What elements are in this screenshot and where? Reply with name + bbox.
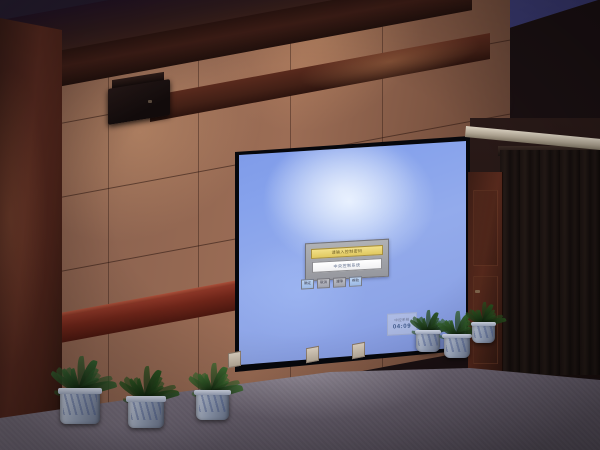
pot-rim <box>126 396 166 402</box>
plant-right-2 <box>444 297 470 358</box>
panel-seam-vertical <box>108 18 109 418</box>
ceramic-planter-pot <box>60 388 100 424</box>
ceramic-planter-pot <box>416 330 440 352</box>
pot-rim <box>58 388 103 394</box>
room-photo-scene: 请输入控制密码 中央控制系统 确定取消清除帮助 中控系统 04:09 <box>0 0 600 450</box>
wall-outlet-left[interactable] <box>228 351 241 368</box>
ceramic-planter-pot <box>472 322 495 343</box>
dialog-button-1[interactable]: 确定 <box>301 278 314 289</box>
projector-led-icon <box>148 100 152 103</box>
badge-label: 中控系统 <box>394 318 409 324</box>
dialog-title-bar: 请输入控制密码 <box>311 245 383 259</box>
dialog-button-3[interactable]: 清除 <box>333 277 346 288</box>
plant-left-3 <box>196 346 229 420</box>
wall-outlet-right[interactable] <box>352 342 365 359</box>
ceramic-planter-pot <box>196 390 229 420</box>
pot-rim <box>194 390 231 395</box>
dialog-input-field[interactable]: 中央控制系统 <box>312 258 382 273</box>
dialog-button-4[interactable]: 帮助 <box>349 276 362 287</box>
room-door[interactable] <box>468 172 503 380</box>
dialog-button-2[interactable]: 取消 <box>317 277 330 288</box>
badge-time: 04:09 <box>393 323 411 330</box>
ceramic-planter-pot <box>444 334 470 358</box>
plant-left-2 <box>128 348 164 428</box>
pot-rim <box>415 330 442 334</box>
panel-seam-vertical <box>198 1 199 401</box>
plant-left-1 <box>60 335 100 424</box>
plant-right-3 <box>472 290 495 343</box>
ceramic-planter-pot <box>128 396 164 428</box>
blackout-curtain <box>500 150 600 375</box>
pot-rim <box>471 322 497 326</box>
wall-outlet-mid[interactable] <box>306 346 319 363</box>
pot-rim <box>442 334 471 338</box>
wood-pilaster <box>0 18 62 450</box>
